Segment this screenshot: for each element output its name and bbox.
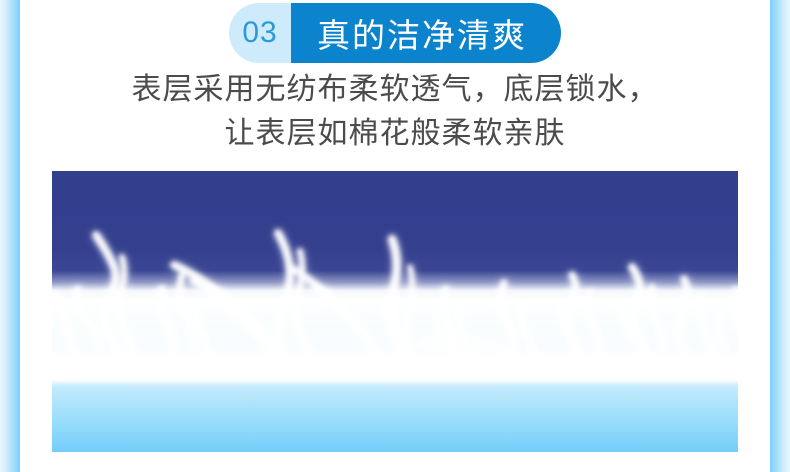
fiber-bed-base [52,355,738,383]
nonwoven-fiber-macro-photo [52,171,738,452]
section-title-label: 真的洁净清爽 [291,3,561,63]
section-heading-pill: 03 真的洁净清爽 [229,3,561,63]
section-index-badge: 03 [229,3,291,63]
subtitle-line-1: 表层采用无纺布柔软透气，底层锁水， [0,68,790,112]
subtitle-line-2: 让表层如棉花般柔软亲肤 [0,112,790,156]
fiber-photo-graphic [52,171,738,452]
section-heading: 03 真的洁净清爽 [0,3,790,63]
section-subtitle: 表层采用无纺布柔软透气，底层锁水， 让表层如棉花般柔软亲肤 [0,68,790,156]
product-detail-page: 03 真的洁净清爽 表层采用无纺布柔软透气，底层锁水， 让表层如棉花般柔软亲肤 [0,0,790,472]
